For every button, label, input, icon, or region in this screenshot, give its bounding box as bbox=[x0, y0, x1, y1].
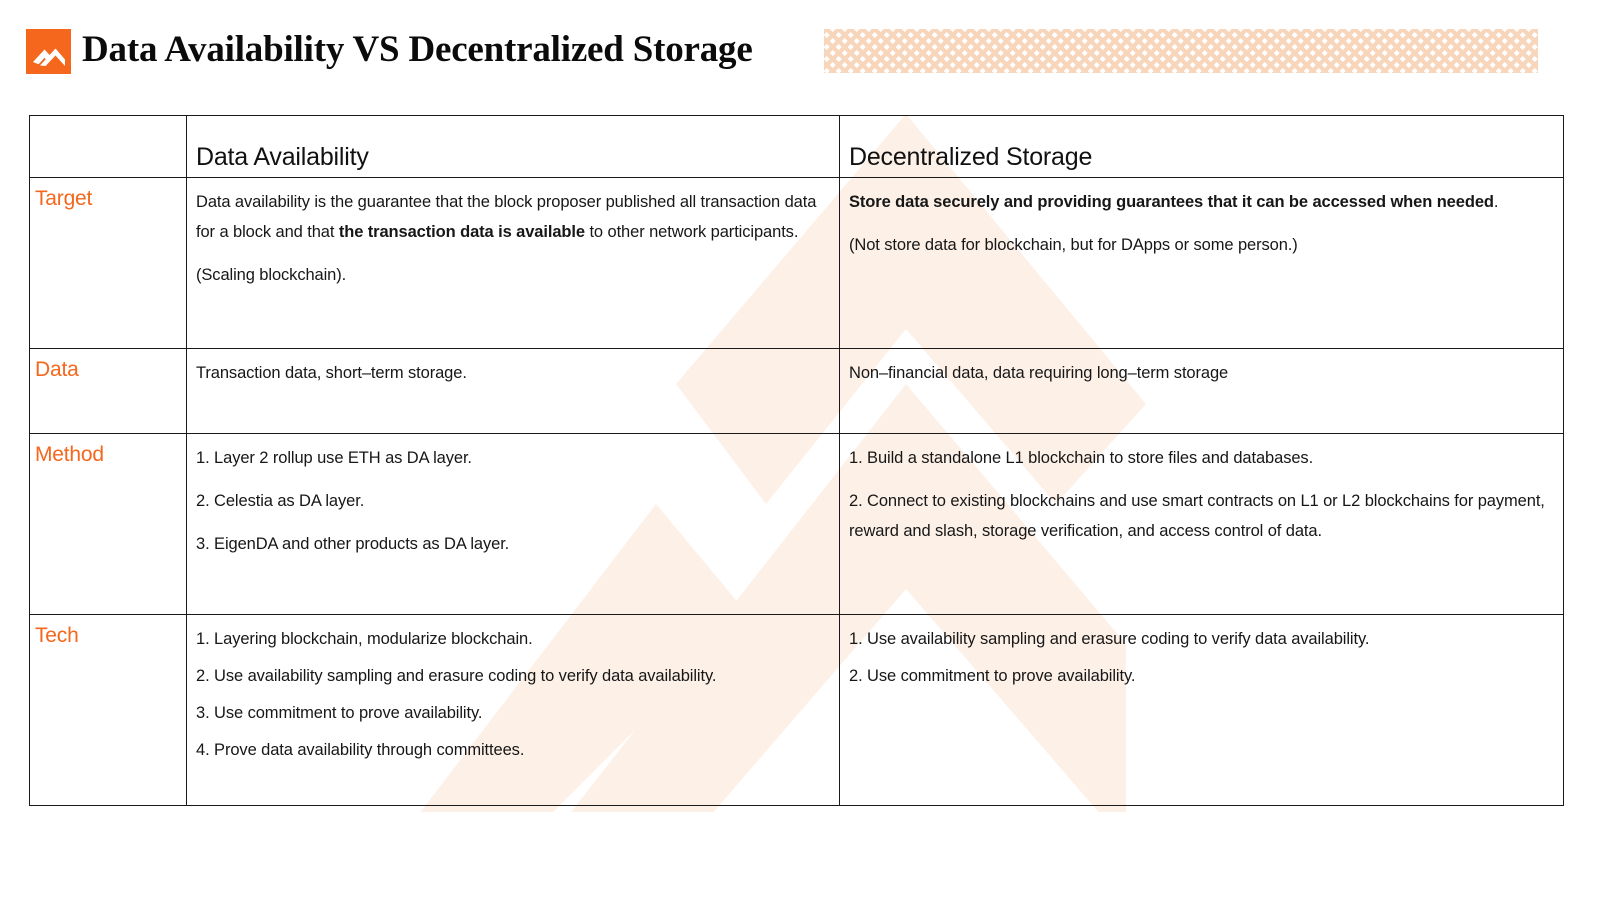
text-run: 1. Build a standalone L1 blockchain to s… bbox=[849, 449, 1313, 467]
comparison-table: Data AvailabilityDecentralized StorageTa… bbox=[29, 115, 1564, 806]
text-run: Transaction data, short–term storage. bbox=[196, 364, 467, 382]
cell-content: Data availability is the guarantee that … bbox=[187, 178, 839, 299]
paragraph: (Not store data for blockchain, but for … bbox=[849, 230, 1556, 260]
comparison-table-wrapper: Data AvailabilityDecentralized StorageTa… bbox=[29, 115, 1563, 812]
table-header-row: Data AvailabilityDecentralized Storage bbox=[30, 116, 1564, 178]
column-header-ds: Decentralized Storage bbox=[840, 116, 1564, 178]
emphasis-text: the transaction data is available bbox=[339, 223, 585, 241]
chevron-zigzag-pattern-icon bbox=[824, 29, 1538, 73]
cell-content: Transaction data, short–term storage. bbox=[187, 349, 839, 397]
column-header-label: Data Availability bbox=[187, 116, 839, 172]
paragraph: 2. Connect to existing blockchains and u… bbox=[849, 486, 1556, 546]
table-row: DataTransaction data, short–term storage… bbox=[30, 349, 1564, 434]
text-run: 1. Layering blockchain, modularize block… bbox=[196, 630, 533, 648]
table-row: TargetData availability is the guarantee… bbox=[30, 178, 1564, 349]
text-run: 3. Use commitment to prove availability. bbox=[196, 704, 482, 722]
paragraph: Non–financial data, data requiring long–… bbox=[849, 358, 1556, 388]
paragraph: Data availability is the guarantee that … bbox=[196, 187, 832, 247]
column-header-da: Data Availability bbox=[187, 116, 840, 178]
text-run: 2. Connect to existing blockchains and u… bbox=[849, 492, 1545, 540]
text-run: 2. Celestia as DA layer. bbox=[196, 492, 364, 510]
text-run: 2. Use commitment to prove availability. bbox=[849, 667, 1135, 685]
paragraph: 4. Prove data availability through commi… bbox=[196, 735, 832, 765]
paragraph: 2. Celestia as DA layer. bbox=[196, 486, 832, 516]
text-run: 3. EigenDA and other products as DA laye… bbox=[196, 535, 509, 553]
row-label-method: Method bbox=[30, 434, 186, 468]
column-header-label: Decentralized Storage bbox=[840, 116, 1563, 172]
text-run: (Scaling blockchain). bbox=[196, 266, 346, 284]
mountain-chevron-logo-icon bbox=[26, 29, 71, 74]
cell-da: Transaction data, short–term storage. bbox=[187, 349, 840, 434]
text-run: to other network participants. bbox=[585, 223, 798, 241]
text-run: 1. Use availability sampling and erasure… bbox=[849, 630, 1369, 648]
cell-ds: 1. Build a standalone L1 blockchain to s… bbox=[840, 434, 1564, 615]
cell-da: Data availability is the guarantee that … bbox=[187, 178, 840, 349]
text-run: . bbox=[1494, 193, 1498, 211]
paragraph: 1. Layering blockchain, modularize block… bbox=[196, 624, 832, 654]
text-run: (Not store data for blockchain, but for … bbox=[849, 236, 1298, 254]
paragraph: 2. Use availability sampling and erasure… bbox=[196, 661, 832, 691]
paragraph: 3. EigenDA and other products as DA laye… bbox=[196, 529, 832, 559]
table-row: Method1. Layer 2 rollup use ETH as DA la… bbox=[30, 434, 1564, 615]
cell-da: 1. Layer 2 rollup use ETH as DA layer.2.… bbox=[187, 434, 840, 615]
cell-ds: 1. Use availability sampling and erasure… bbox=[840, 615, 1564, 806]
paragraph: Transaction data, short–term storage. bbox=[196, 358, 832, 388]
cell-content: 1. Use availability sampling and erasure… bbox=[840, 615, 1563, 700]
text-run: 4. Prove data availability through commi… bbox=[196, 741, 524, 759]
cell-ds: Non–financial data, data requiring long–… bbox=[840, 349, 1564, 434]
cell-content: Store data securely and providing guaran… bbox=[840, 178, 1563, 269]
row-label-target: Target bbox=[30, 178, 186, 212]
row-label-cell: Method bbox=[30, 434, 187, 615]
row-label-data: Data bbox=[30, 349, 186, 383]
cell-ds: Store data securely and providing guaran… bbox=[840, 178, 1564, 349]
table-header-corner-cell bbox=[30, 116, 187, 178]
cell-content: 1. Layer 2 rollup use ETH as DA layer.2.… bbox=[187, 434, 839, 568]
text-run: Non–financial data, data requiring long–… bbox=[849, 364, 1228, 382]
paragraph: (Scaling blockchain). bbox=[196, 260, 832, 290]
table-row: Tech1. Layering blockchain, modularize b… bbox=[30, 615, 1564, 806]
row-label-cell: Target bbox=[30, 178, 187, 349]
cell-content: 1. Layering blockchain, modularize block… bbox=[187, 615, 839, 774]
paragraph: Store data securely and providing guaran… bbox=[849, 187, 1556, 217]
emphasis-text: Store data securely and providing guaran… bbox=[849, 193, 1494, 211]
paragraph: 1. Layer 2 rollup use ETH as DA layer. bbox=[196, 443, 832, 473]
paragraph: 2. Use commitment to prove availability. bbox=[849, 661, 1556, 691]
text-run: 2. Use availability sampling and erasure… bbox=[196, 667, 716, 685]
row-label-cell: Tech bbox=[30, 615, 187, 806]
text-run: 1. Layer 2 rollup use ETH as DA layer. bbox=[196, 449, 472, 467]
row-label-cell: Data bbox=[30, 349, 187, 434]
page-header: Data Availability VS Decentralized Stora… bbox=[0, 0, 1600, 105]
paragraph: 1. Use availability sampling and erasure… bbox=[849, 624, 1556, 654]
cell-da: 1. Layering blockchain, modularize block… bbox=[187, 615, 840, 806]
cell-content: 1. Build a standalone L1 blockchain to s… bbox=[840, 434, 1563, 555]
paragraph: 1. Build a standalone L1 blockchain to s… bbox=[849, 443, 1556, 473]
cell-content: Non–financial data, data requiring long–… bbox=[840, 349, 1563, 397]
paragraph: 3. Use commitment to prove availability. bbox=[196, 698, 832, 728]
page-title: Data Availability VS Decentralized Stora… bbox=[82, 24, 753, 76]
row-label-tech: Tech bbox=[30, 615, 186, 649]
